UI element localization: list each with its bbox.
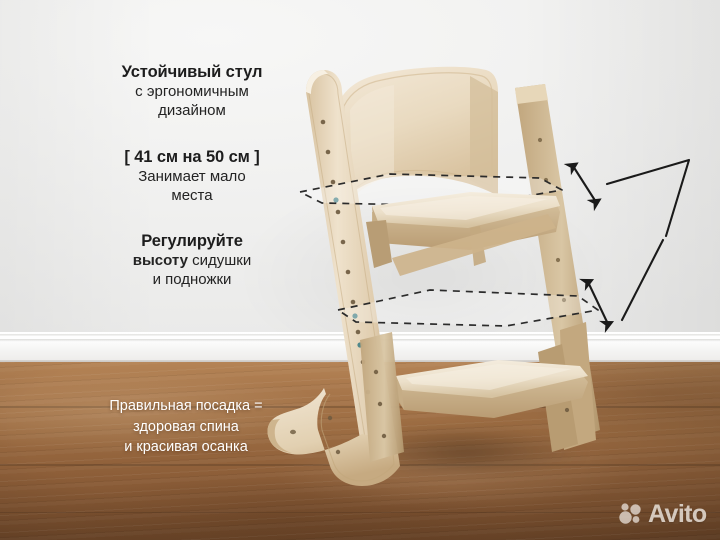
feature-adjustable-line2: высоту сидушки (96, 251, 288, 270)
feature-footprint-line3: места (96, 186, 288, 205)
feature-adjustable-line3: и подножки (96, 270, 288, 289)
feature-block-stability: Устойчивый стул с эргономичным дизайном (96, 62, 288, 121)
feature-stability-line3: дизайном (96, 101, 288, 120)
footrest-height-arrow (588, 282, 608, 324)
feature-footprint-line2: Занимает мало (96, 167, 288, 186)
avito-wordmark: Avito (648, 502, 707, 527)
feature-block-adjustable: Регулируйте высоту сидушки и подножки (96, 231, 288, 290)
feature-adjustable-headline: Регулируйте (96, 231, 288, 251)
avito-watermark: Avito (618, 498, 710, 530)
floor-caption-line3: и красивая осанка (72, 437, 300, 458)
feature-text-column: Устойчивый стул с эргономичным дизайном … (96, 62, 288, 314)
feature-stability-line2: с эргономичным (96, 82, 288, 101)
floor-caption-line1: Правильная посадка = (72, 396, 300, 417)
feature-footprint-dimensions: [ 41 см на 50 см ] (96, 147, 288, 167)
floor-caption-line2: здоровая спина (72, 417, 300, 438)
avito-logo-icon (618, 501, 644, 527)
floor-caption: Правильная посадка = здоровая спина и кр… (72, 396, 300, 458)
product-image-canvas: Устойчивый стул с эргономичным дизайном … (0, 0, 720, 540)
feature-adjustable-line2-bold: высоту (133, 252, 188, 269)
seat-height-bracket (607, 160, 689, 236)
seat-height-arrow (573, 166, 596, 202)
feature-adjustable-line2-rest: сидушки (188, 252, 251, 269)
feature-stability-headline: Устойчивый стул (96, 62, 288, 82)
feature-block-footprint: [ 41 см на 50 см ] Занимает мало места (96, 147, 288, 206)
footrest-height-bracket (622, 240, 663, 320)
